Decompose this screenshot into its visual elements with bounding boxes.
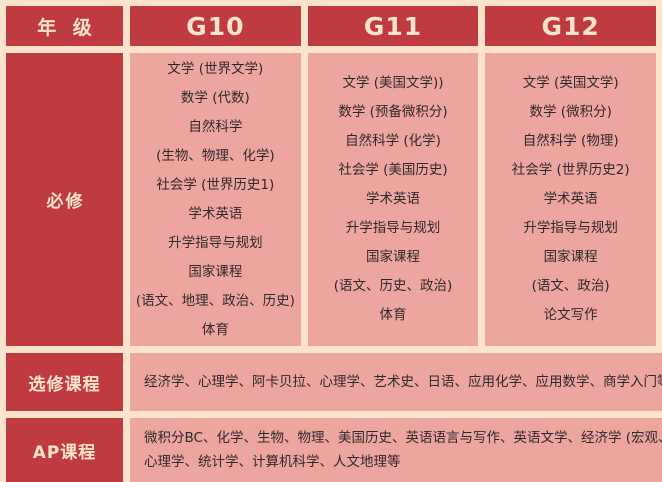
course-item: 论文写作 xyxy=(544,301,598,330)
course-item: 自然科学 xyxy=(188,113,242,142)
row-label-elective: 选修课程 xyxy=(6,353,123,411)
required-courses-g11: 文学 (美国文学)) 数学 (预备微积分) 自然科学 (化学) 社会学 (美国历… xyxy=(308,53,479,346)
curriculum-table: 年 级 G10 G11 G12 必修 文学 (世界文学) 数学 (代数) 自然科… xyxy=(0,0,662,480)
course-item: (生物、物理、化学) xyxy=(156,142,275,171)
course-item: 学术英语 xyxy=(188,200,242,229)
course-item: 社会学 (世界历史1) xyxy=(156,171,274,200)
header-cell-g12: G12 xyxy=(485,6,656,46)
course-item: 数学 (预备微积分) xyxy=(338,98,447,127)
required-courses-g12: 文学 (英国文学) 数学 (微积分) 自然科学 (物理) 社会学 (世界历史2)… xyxy=(485,53,656,346)
elective-course-line: 经济学、心理学、阿卡贝拉、心理学、艺术史、日语、应用化学、应用数学、商学入门等 xyxy=(144,370,662,394)
row-label-required: 必修 xyxy=(6,53,123,346)
course-item: 文学 (世界文学) xyxy=(167,55,263,84)
table-row-elective: 选修课程 经济学、心理学、阿卡贝拉、心理学、艺术史、日语、应用化学、应用数学、商… xyxy=(6,353,656,411)
required-courses-g10: 文学 (世界文学) 数学 (代数) 自然科学 (生物、物理、化学) 社会学 (世… xyxy=(130,53,301,346)
ap-courses-content: 微积分BC、化学、生物、物理、美国历史、英语语言与写作、英语文学、经济学 (宏观… xyxy=(130,418,662,482)
course-item: 国家课程 xyxy=(366,243,420,272)
table-row-required: 必修 文学 (世界文学) 数学 (代数) 自然科学 (生物、物理、化学) 社会学… xyxy=(6,53,656,346)
course-item: 文学 (美国文学)) xyxy=(342,69,443,98)
header-cell-g10: G10 xyxy=(130,6,301,46)
course-item: 自然科学 (化学) xyxy=(345,127,441,156)
course-item: 学术英语 xyxy=(366,185,420,214)
course-item: 体育 xyxy=(202,316,229,345)
header-cell-g11: G11 xyxy=(308,6,479,46)
table-row-ap: AP课程 微积分BC、化学、生物、物理、美国历史、英语语言与写作、英语文学、经济… xyxy=(6,418,656,482)
course-item: 升学指导与规划 xyxy=(168,229,263,258)
course-item: 数学 (代数) xyxy=(181,84,250,113)
course-item: 学术英语 xyxy=(544,185,598,214)
course-item: 体育 xyxy=(380,301,407,330)
course-item: 国家课程 xyxy=(188,258,242,287)
course-item: 国家课程 xyxy=(544,243,598,272)
course-item: 自然科学 (物理) xyxy=(523,127,619,156)
course-item: (语文、政治) xyxy=(532,272,610,301)
ap-course-line: 心理学、统计学、计算机科学、人文地理等 xyxy=(144,450,401,474)
table-header-row: 年 级 G10 G11 G12 xyxy=(6,6,656,46)
course-item: 社会学 (世界历史2) xyxy=(512,156,630,185)
course-item: 文学 (英国文学) xyxy=(523,69,619,98)
ap-course-line: 微积分BC、化学、生物、物理、美国历史、英语语言与写作、英语文学、经济学 (宏观… xyxy=(144,426,662,450)
header-cell-grade-label: 年 级 xyxy=(6,6,123,46)
course-item: 数学 (微积分) xyxy=(530,98,612,127)
course-item: 升学指导与规划 xyxy=(346,214,441,243)
course-item: (语文、历史、政治) xyxy=(334,272,453,301)
course-item: (语文、地理、政治、历史) xyxy=(136,287,295,316)
course-item: 升学指导与规划 xyxy=(523,214,618,243)
course-item: 社会学 (美国历史) xyxy=(338,156,447,185)
row-label-ap: AP课程 xyxy=(6,418,123,482)
elective-courses-content: 经济学、心理学、阿卡贝拉、心理学、艺术史、日语、应用化学、应用数学、商学入门等 xyxy=(130,353,662,411)
